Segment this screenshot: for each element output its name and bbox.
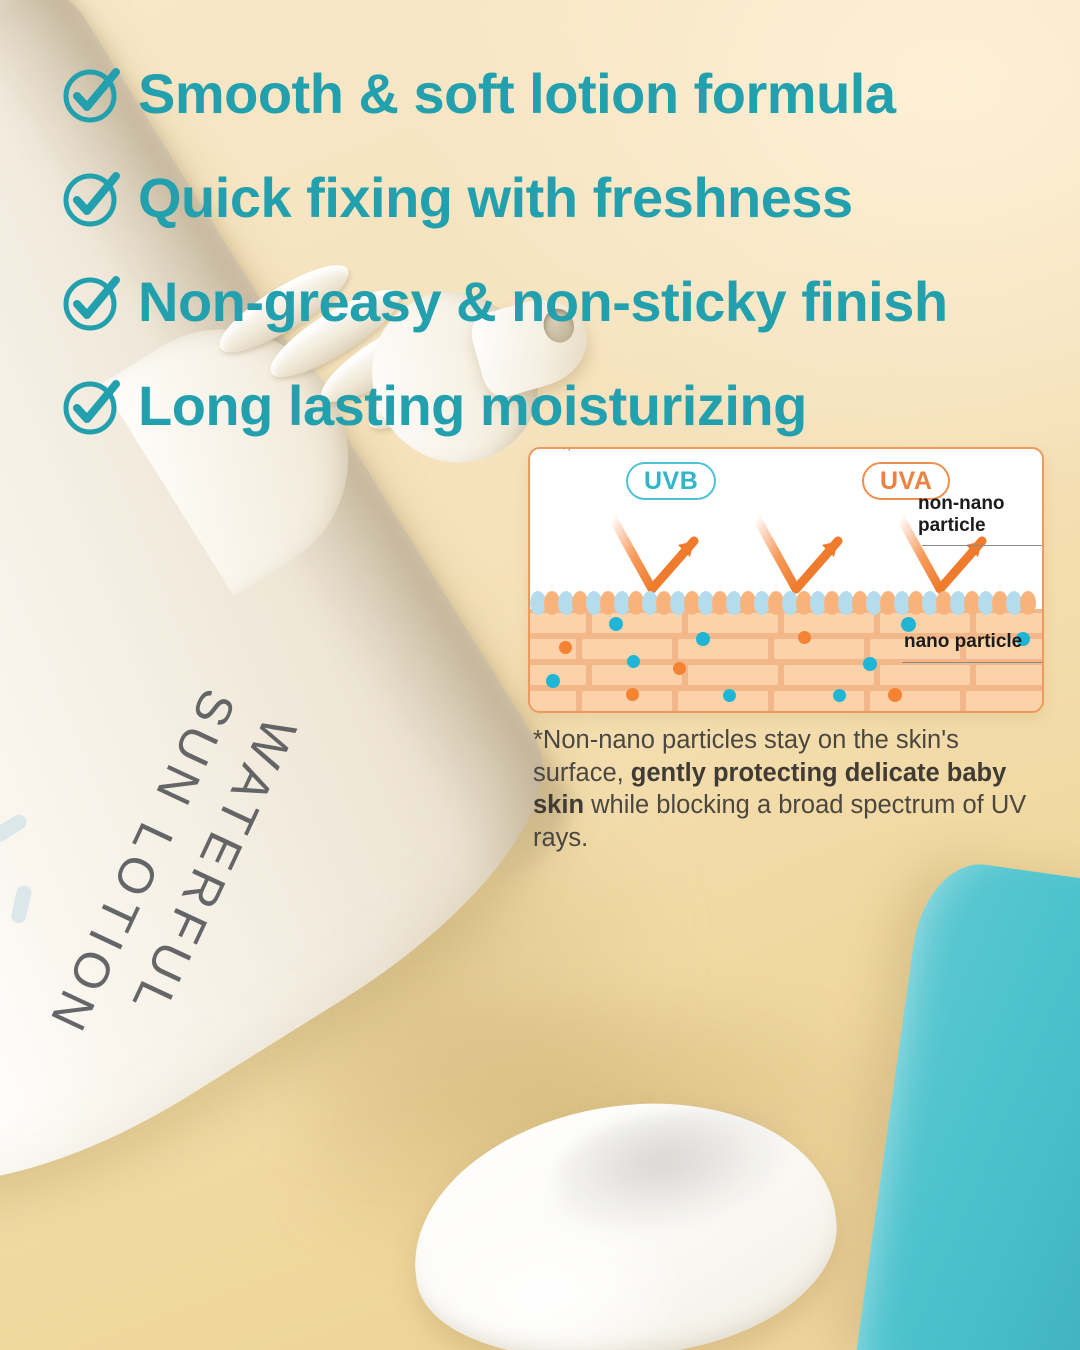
skin-layer-bricks	[530, 609, 1042, 711]
diagram-caption: *Non-nano particles stay on the skin's s…	[533, 724, 1045, 855]
nano-particle-callout: nano particle	[904, 631, 1044, 653]
non-nano-particle-layer	[530, 591, 1042, 615]
non-nano-particle-callout: non-nano particle	[918, 493, 1044, 538]
caption-part-2: while blocking a broad spectrum of UV ra…	[533, 791, 1026, 852]
feature-label: Long lasting moisturizing	[138, 378, 807, 434]
uv-protection-diagram: UVB UVA	[528, 447, 1044, 713]
feature-label: Quick fixing with freshness	[138, 170, 853, 226]
check-circle-icon	[60, 375, 122, 437]
uv-ray-arrow	[608, 515, 704, 597]
check-circle-icon	[60, 63, 122, 125]
check-circle-icon	[60, 271, 122, 333]
feature-item: Non-greasy & non-sticky finish	[60, 250, 1060, 354]
feature-item: Long lasting moisturizing	[60, 354, 1060, 458]
feature-list: Smooth & soft lotion formula Quick fixin…	[60, 42, 1060, 458]
callout-leader-line	[902, 662, 1042, 663]
non-nano-callout-line-2: particle	[918, 515, 1044, 537]
callout-leader-line	[543, 447, 565, 450]
callout-leader-line	[922, 545, 1042, 546]
feature-label: Smooth & soft lotion formula	[138, 66, 895, 122]
non-nano-callout-line-1: non-nano	[918, 493, 1044, 515]
feature-label: Non-greasy & non-sticky finish	[138, 274, 948, 330]
callout-leader-line	[544, 447, 570, 451]
uvb-tag: UVB	[626, 462, 716, 500]
uv-ray-arrow	[752, 515, 848, 597]
check-circle-icon	[60, 167, 122, 229]
product-feature-graphic: WATERFUL SUN LOTION Smooth & soft lotion…	[0, 0, 1080, 1350]
feature-item: Smooth & soft lotion formula	[60, 42, 1060, 146]
feature-item: Quick fixing with freshness	[60, 146, 1060, 250]
